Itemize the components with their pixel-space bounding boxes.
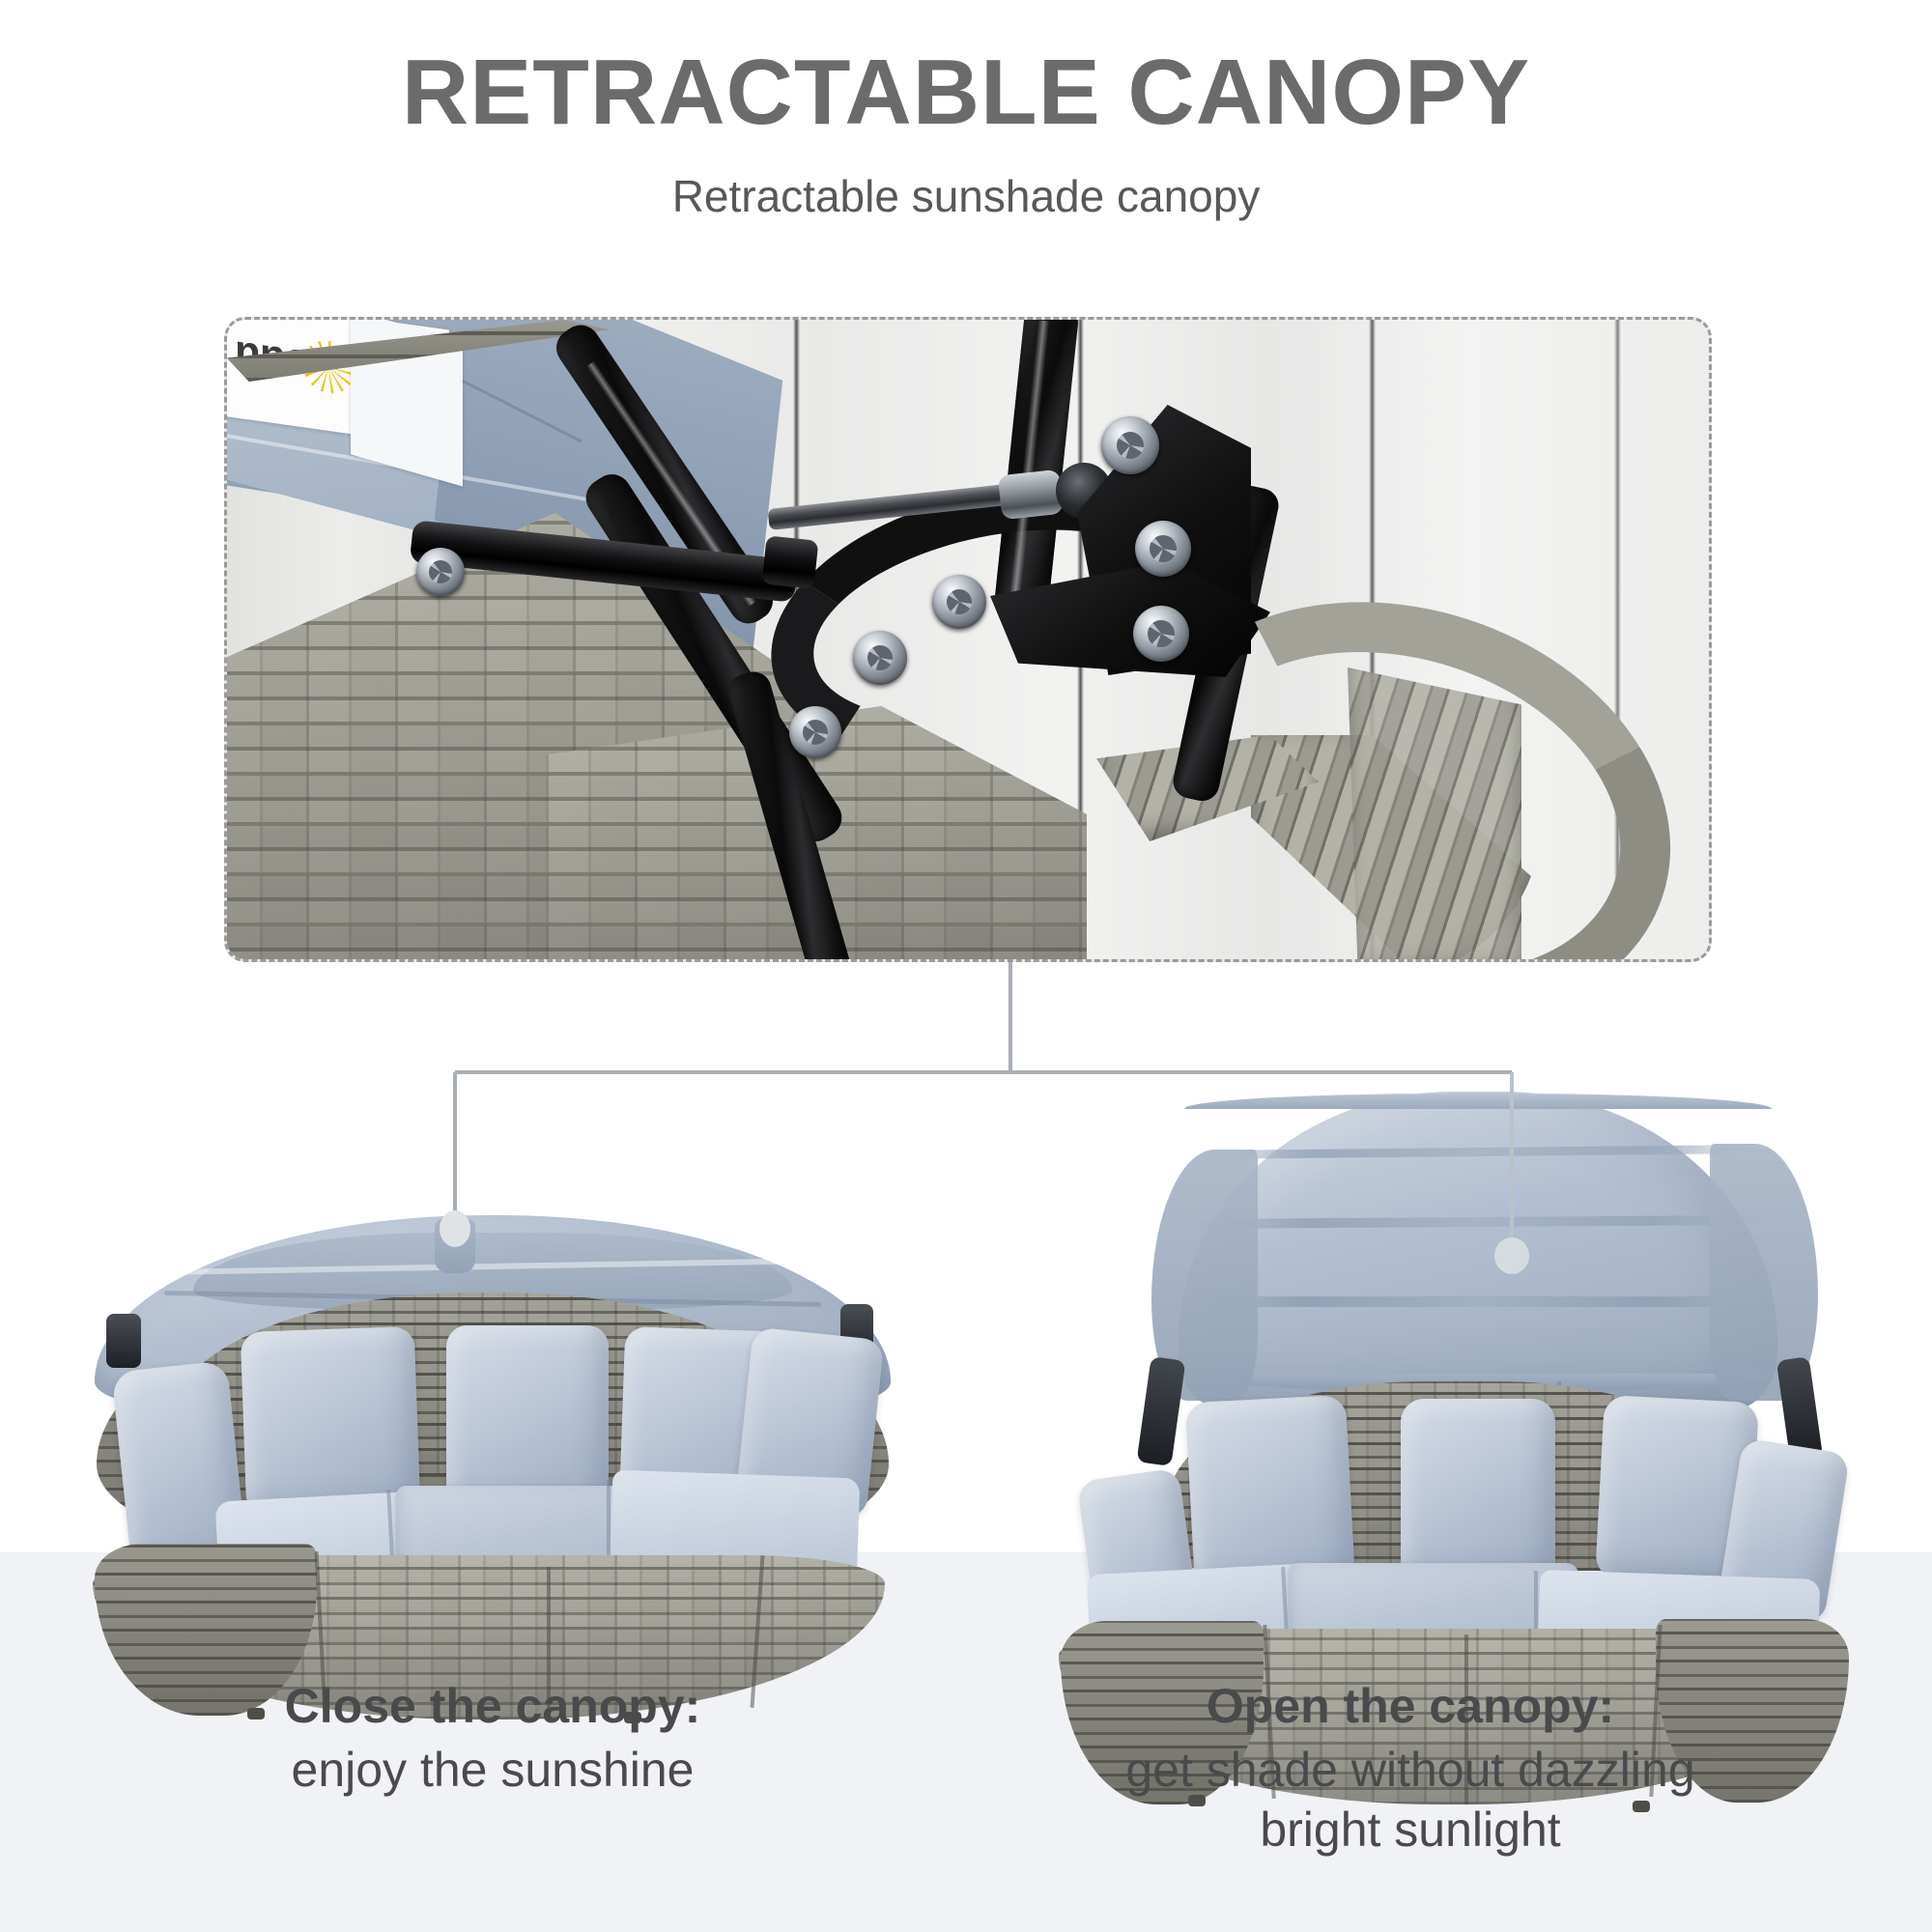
hex-bolt-icon [932,575,986,629]
rattan-curved-arm-texture [1348,668,1521,959]
detail-photo-panel: nno [224,317,1712,962]
hex-bolt-icon [1133,606,1189,662]
pillow [1401,1399,1555,1582]
daybed-canopy-closed [77,1150,908,1594]
caption-close-canopy: Close the canopy: enjoy the sunshine [116,1677,869,1800]
open-canopy-dome [1179,1092,1777,1410]
pillow [241,1326,421,1516]
pillow [446,1325,609,1511]
caption-close-heading: Close the canopy: [116,1677,869,1736]
canopy-rim-top [1184,1094,1772,1109]
daybed-canopy-open [1043,1092,1874,1594]
gas-strut-end-fitting [998,469,1064,520]
caption-open-subtext-line1: get shade without dazzling [985,1740,1835,1800]
canopy-hinge-detail-photo: nno [227,320,1709,959]
hex-bolt-icon [853,631,907,685]
canopy-rib [1188,1296,1772,1307]
page-title: RETRACTABLE CANOPY [0,0,1932,139]
canopy-hinge-arm-left-icon [1137,1356,1186,1466]
caption-open-subtext-line2: bright sunlight [985,1800,1835,1860]
gas-strut-collar [762,535,819,588]
hex-bolt-icon [1135,521,1191,577]
hex-bolt-icon [1101,416,1159,474]
header: RETRACTABLE CANOPY Retractable sunshade … [0,0,1932,218]
canopy-clip-left-icon [106,1314,141,1368]
hex-bolt-icon [416,548,465,596]
caption-open-heading: Open the canopy: [985,1677,1835,1736]
page-subtitle: Retractable sunshade canopy [0,139,1932,218]
caption-close-subtext: enjoy the sunshine [116,1740,869,1800]
canopy-tie-knot [435,1219,475,1273]
caption-open-canopy: Open the canopy: get shade without dazzl… [985,1677,1835,1860]
hex-bolt-icon [789,706,841,758]
